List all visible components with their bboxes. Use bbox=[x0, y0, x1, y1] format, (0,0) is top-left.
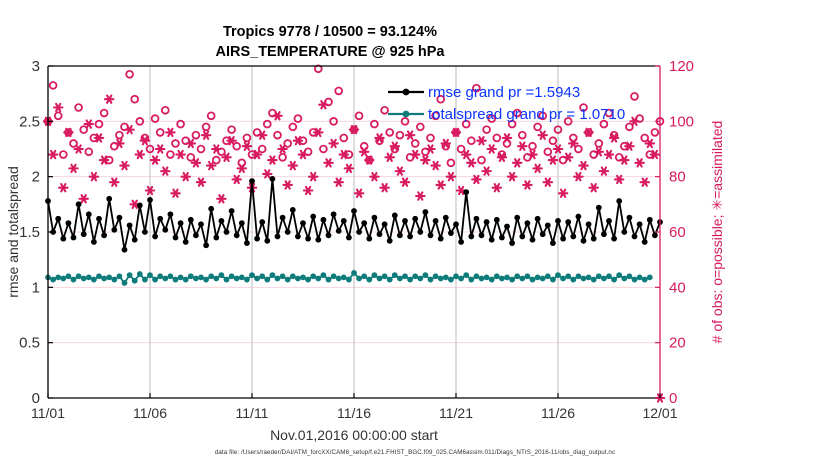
ytick-label-right: 20 bbox=[669, 335, 686, 352]
series-point-totalspread bbox=[530, 277, 536, 283]
series-point-totalspread bbox=[239, 274, 245, 280]
series-point-rmse bbox=[188, 217, 194, 223]
series-point-rmse bbox=[448, 230, 454, 236]
series-point-rmse bbox=[606, 218, 612, 224]
series-point-totalspread bbox=[326, 277, 332, 283]
ytick-label-right: 60 bbox=[669, 224, 686, 241]
series-point-totalspread bbox=[208, 273, 214, 279]
series-point-rmse bbox=[601, 231, 607, 237]
series-point-totalspread bbox=[632, 277, 638, 283]
series-point-rmse bbox=[377, 231, 383, 237]
series-point-rmse bbox=[479, 232, 485, 238]
series-point-totalspread bbox=[300, 274, 306, 280]
series-point-rmse bbox=[300, 220, 306, 226]
series-point-totalspread bbox=[280, 273, 286, 279]
series-point-rmse bbox=[254, 236, 260, 242]
series-point-totalspread bbox=[504, 274, 510, 280]
series-point-rmse bbox=[387, 238, 393, 244]
series-point-rmse bbox=[494, 217, 500, 223]
series-point-rmse bbox=[402, 218, 408, 224]
series-point-totalspread bbox=[560, 276, 566, 282]
series-point-totalspread bbox=[443, 274, 449, 280]
series-point-totalspread bbox=[428, 277, 434, 283]
series-point-rmse bbox=[356, 229, 362, 235]
series-point-totalspread bbox=[178, 274, 184, 280]
series-point-rmse bbox=[525, 220, 531, 226]
series-point-rmse bbox=[285, 229, 291, 235]
series-point-totalspread bbox=[213, 276, 219, 282]
xtick-label: 11/16 bbox=[337, 405, 371, 421]
ytick-label-right: 40 bbox=[669, 279, 686, 296]
series-point-totalspread bbox=[168, 273, 174, 279]
series-point-totalspread bbox=[555, 272, 561, 278]
series-point-rmse bbox=[382, 221, 388, 227]
series-point-rmse bbox=[259, 219, 265, 225]
series-point-rmse bbox=[453, 221, 459, 227]
series-point-rmse bbox=[565, 219, 571, 225]
series-point-totalspread bbox=[514, 273, 520, 279]
series-point-totalspread bbox=[321, 272, 327, 278]
series-point-rmse bbox=[76, 201, 82, 207]
series-point-rmse bbox=[433, 218, 439, 224]
series-point-totalspread bbox=[377, 276, 383, 282]
series-point-totalspread bbox=[259, 273, 265, 279]
series-point-rmse bbox=[596, 205, 602, 211]
series-point-rmse bbox=[468, 234, 474, 240]
series-point-rmse bbox=[117, 215, 123, 221]
legend-marker-1 bbox=[403, 111, 410, 118]
series-point-rmse bbox=[545, 222, 551, 228]
series-point-rmse bbox=[275, 234, 281, 240]
ytick-label-right: 80 bbox=[669, 169, 686, 186]
data-file-footer: data file: /Users/raeder/DAI/ATM_forcXX/… bbox=[0, 449, 830, 456]
series-point-rmse bbox=[570, 234, 576, 240]
series-point-rmse bbox=[157, 216, 163, 222]
series-point-totalspread bbox=[76, 273, 82, 279]
series-point-rmse bbox=[55, 216, 61, 222]
series-point-rmse bbox=[183, 239, 189, 245]
series-point-rmse bbox=[71, 235, 77, 241]
series-point-totalspread bbox=[458, 276, 464, 282]
series-point-totalspread bbox=[550, 277, 556, 283]
series-point-rmse bbox=[178, 220, 184, 226]
series-point-totalspread bbox=[101, 276, 107, 282]
ytick-label-left: 0.5 bbox=[19, 335, 40, 352]
series-point-rmse bbox=[249, 178, 255, 184]
series-point-totalspread bbox=[545, 273, 551, 279]
series-point-totalspread bbox=[106, 274, 112, 280]
series-point-totalspread bbox=[132, 278, 138, 284]
series-point-rmse bbox=[392, 213, 398, 219]
series-point-rmse bbox=[489, 237, 495, 243]
series-point-rmse bbox=[193, 232, 199, 238]
series-point-totalspread bbox=[203, 277, 209, 283]
series-point-totalspread bbox=[565, 273, 571, 279]
series-point-totalspread bbox=[397, 276, 403, 282]
series-point-rmse bbox=[443, 215, 449, 221]
series-point-totalspread bbox=[331, 273, 337, 279]
series-point-rmse bbox=[484, 219, 490, 225]
series-point-rmse bbox=[66, 220, 72, 226]
y-axis-label: rmse and totalspread bbox=[5, 166, 21, 298]
series-point-rmse bbox=[336, 228, 342, 234]
ytick-label-left: 1.5 bbox=[19, 224, 40, 241]
series-point-rmse bbox=[550, 240, 556, 246]
series-point-totalspread bbox=[412, 273, 418, 279]
series-point-rmse bbox=[504, 224, 510, 230]
series-point-rmse bbox=[351, 208, 357, 214]
legend-label-0: rmse grand pr =1.5943 bbox=[428, 84, 580, 101]
series-point-totalspread bbox=[219, 272, 225, 278]
series-point-totalspread bbox=[336, 276, 342, 282]
series-point-totalspread bbox=[81, 276, 87, 282]
series-point-totalspread bbox=[183, 277, 189, 283]
series-point-totalspread bbox=[489, 277, 495, 283]
series-point-totalspread bbox=[111, 277, 117, 283]
series-point-rmse bbox=[106, 196, 112, 202]
series-point-rmse bbox=[530, 237, 536, 243]
series-point-rmse bbox=[463, 189, 469, 195]
series-point-totalspread bbox=[310, 273, 316, 279]
series-point-rmse bbox=[519, 234, 525, 240]
series-point-totalspread bbox=[366, 277, 372, 283]
series-point-rmse bbox=[509, 240, 515, 246]
series-point-rmse bbox=[244, 240, 250, 246]
series-point-rmse bbox=[147, 197, 153, 203]
series-point-totalspread bbox=[642, 277, 648, 283]
series-point-rmse bbox=[642, 239, 648, 245]
series-point-totalspread bbox=[570, 277, 576, 283]
series-point-totalspread bbox=[147, 272, 153, 278]
series-point-rmse bbox=[142, 229, 148, 235]
series-point-rmse bbox=[423, 209, 429, 215]
series-point-totalspread bbox=[468, 277, 474, 283]
series-point-totalspread bbox=[540, 276, 546, 282]
series-point-totalspread bbox=[55, 274, 61, 280]
series-point-totalspread bbox=[315, 276, 321, 282]
series-point-totalspread bbox=[270, 272, 276, 278]
ytick-label-left: 2 bbox=[32, 169, 40, 186]
ytick-label-left: 2.5 bbox=[19, 113, 40, 130]
series-point-totalspread bbox=[361, 273, 367, 279]
series-point-rmse bbox=[132, 237, 138, 243]
legend-label-1: totalspread grand pr = 1.0710 bbox=[428, 106, 625, 123]
series-point-rmse bbox=[555, 218, 561, 224]
series-point-totalspread bbox=[453, 273, 459, 279]
series-point-totalspread bbox=[173, 277, 179, 283]
series-point-totalspread bbox=[499, 276, 505, 282]
series-point-totalspread bbox=[535, 274, 541, 280]
series-point-totalspread bbox=[305, 277, 311, 283]
series-point-rmse bbox=[616, 198, 622, 204]
series-point-totalspread bbox=[438, 276, 444, 282]
series-point-rmse bbox=[101, 232, 107, 238]
series-point-rmse bbox=[458, 239, 464, 245]
series-point-rmse bbox=[581, 238, 587, 244]
series-point-rmse bbox=[137, 203, 143, 209]
series-point-rmse bbox=[331, 211, 337, 217]
series-point-rmse bbox=[652, 232, 658, 238]
legend-marker-0 bbox=[403, 89, 410, 96]
series-point-rmse bbox=[397, 232, 403, 238]
series-point-rmse bbox=[208, 206, 214, 212]
series-point-rmse bbox=[326, 232, 332, 238]
series-point-rmse bbox=[203, 242, 209, 248]
series-point-totalspread bbox=[596, 273, 602, 279]
series-point-totalspread bbox=[50, 277, 56, 283]
series-point-totalspread bbox=[519, 276, 525, 282]
series-point-totalspread bbox=[576, 273, 582, 279]
series-point-rmse bbox=[535, 216, 541, 222]
series-point-totalspread bbox=[484, 274, 490, 280]
series-point-totalspread bbox=[346, 277, 352, 283]
series-point-rmse bbox=[361, 220, 367, 226]
series-point-rmse bbox=[122, 247, 128, 253]
series-point-totalspread bbox=[198, 274, 204, 280]
series-point-rmse bbox=[321, 217, 327, 223]
series-point-totalspread bbox=[611, 277, 617, 283]
series-point-totalspread bbox=[637, 274, 643, 280]
series-point-totalspread bbox=[586, 274, 592, 280]
series-point-totalspread bbox=[66, 273, 72, 279]
series-point-rmse bbox=[162, 227, 168, 233]
series-point-totalspread bbox=[433, 273, 439, 279]
series-point-rmse bbox=[213, 235, 219, 241]
series-point-rmse bbox=[346, 235, 352, 241]
series-point-totalspread bbox=[448, 277, 454, 283]
series-point-rmse bbox=[372, 215, 378, 221]
xtick-label: 12/01 bbox=[642, 405, 677, 421]
series-point-rmse bbox=[198, 221, 204, 227]
series-point-totalspread bbox=[494, 273, 500, 279]
series-point-totalspread bbox=[351, 270, 357, 276]
series-point-rmse bbox=[111, 227, 117, 233]
series-point-totalspread bbox=[290, 273, 296, 279]
series-point-rmse bbox=[96, 216, 102, 222]
series-point-rmse bbox=[591, 236, 597, 242]
series-point-totalspread bbox=[606, 273, 612, 279]
xtick-label: 11/26 bbox=[541, 405, 575, 421]
series-point-rmse bbox=[637, 221, 643, 227]
series-point-rmse bbox=[127, 222, 133, 228]
series-point-rmse bbox=[280, 215, 286, 221]
series-point-rmse bbox=[560, 236, 566, 242]
series-point-totalspread bbox=[142, 277, 148, 283]
series-point-rmse bbox=[621, 229, 627, 235]
series-point-totalspread bbox=[581, 276, 587, 282]
series-point-totalspread bbox=[463, 272, 469, 278]
series-point-totalspread bbox=[275, 276, 281, 282]
xtick-label: 11/01 bbox=[31, 405, 65, 421]
y2-axis-label: # of obs: o=possible; ✳=assimilated bbox=[709, 121, 725, 344]
series-point-rmse bbox=[417, 229, 423, 235]
series-point-totalspread bbox=[117, 273, 123, 279]
ytick-label-right: 120 bbox=[669, 58, 694, 75]
series-point-rmse bbox=[474, 216, 480, 222]
figure-root: Tropics 9778 / 10500 = 93.124% AIRS_TEMP… bbox=[0, 0, 830, 470]
series-point-totalspread bbox=[127, 272, 133, 278]
series-point-totalspread bbox=[479, 276, 485, 282]
series-point-totalspread bbox=[96, 273, 102, 279]
series-point-rmse bbox=[81, 231, 87, 237]
series-point-rmse bbox=[152, 234, 158, 240]
series-point-rmse bbox=[315, 237, 321, 243]
xtick-label: 11/11 bbox=[236, 405, 269, 421]
series-point-rmse bbox=[632, 234, 638, 240]
ytick-label-left: 3 bbox=[32, 58, 40, 75]
series-point-totalspread bbox=[193, 276, 199, 282]
series-point-totalspread bbox=[407, 277, 413, 283]
series-point-rmse bbox=[290, 207, 296, 213]
series-point-rmse bbox=[239, 220, 245, 226]
series-point-rmse bbox=[86, 211, 92, 217]
series-point-rmse bbox=[295, 234, 301, 240]
series-point-totalspread bbox=[356, 276, 362, 282]
series-point-totalspread bbox=[525, 273, 531, 279]
xtick-label: 11/21 bbox=[439, 405, 473, 421]
series-point-totalspread bbox=[188, 273, 194, 279]
series-point-rmse bbox=[576, 214, 582, 220]
series-point-totalspread bbox=[621, 276, 627, 282]
series-point-rmse bbox=[438, 236, 444, 242]
series-point-rmse bbox=[91, 239, 97, 245]
series-point-totalspread bbox=[647, 274, 653, 280]
series-point-rmse bbox=[224, 229, 230, 235]
series-point-rmse bbox=[627, 215, 633, 221]
series-point-rmse bbox=[234, 232, 240, 238]
series-point-rmse bbox=[499, 235, 505, 241]
series-point-rmse bbox=[428, 232, 434, 238]
series-point-rmse bbox=[219, 218, 225, 224]
series-point-totalspread bbox=[86, 274, 92, 280]
series-point-totalspread bbox=[157, 273, 163, 279]
xtick-label: 11/06 bbox=[133, 405, 167, 421]
series-point-rmse bbox=[173, 235, 179, 241]
series-point-rmse bbox=[270, 176, 276, 182]
series-point-rmse bbox=[305, 236, 311, 242]
series-point-totalspread bbox=[474, 273, 480, 279]
series-point-rmse bbox=[168, 211, 174, 217]
plot-svg: 00.511.522.5302040608010012011/0111/0611… bbox=[0, 0, 830, 470]
series-point-totalspread bbox=[509, 277, 515, 283]
series-point-totalspread bbox=[224, 277, 230, 283]
series-point-totalspread bbox=[295, 276, 301, 282]
series-point-rmse bbox=[366, 236, 372, 242]
series-point-rmse bbox=[514, 215, 520, 221]
series-point-totalspread bbox=[152, 277, 158, 283]
series-point-totalspread bbox=[249, 272, 255, 278]
series-point-totalspread bbox=[382, 273, 388, 279]
series-point-totalspread bbox=[402, 273, 408, 279]
series-point-rmse bbox=[412, 216, 418, 222]
series-point-rmse bbox=[310, 214, 316, 220]
series-point-rmse bbox=[229, 208, 235, 214]
ytick-label-left: 1 bbox=[32, 279, 40, 296]
series-point-totalspread bbox=[137, 271, 143, 277]
series-point-totalspread bbox=[616, 272, 622, 278]
series-point-rmse bbox=[407, 234, 413, 240]
series-point-totalspread bbox=[423, 272, 429, 278]
series-point-totalspread bbox=[387, 277, 393, 283]
series-point-rmse bbox=[540, 231, 546, 237]
series-point-totalspread bbox=[244, 277, 250, 283]
series-point-totalspread bbox=[285, 277, 291, 283]
series-point-totalspread bbox=[229, 273, 235, 279]
series-point-rmse bbox=[341, 218, 347, 224]
series-point-totalspread bbox=[264, 277, 270, 283]
series-point-totalspread bbox=[234, 276, 240, 282]
series-point-totalspread bbox=[60, 276, 66, 282]
series-point-totalspread bbox=[417, 276, 423, 282]
series-point-rmse bbox=[647, 217, 653, 223]
series-point-rmse bbox=[264, 238, 270, 244]
series-point-totalspread bbox=[601, 276, 607, 282]
series-point-totalspread bbox=[254, 276, 260, 282]
series-point-totalspread bbox=[341, 274, 347, 280]
ytick-label-right: 100 bbox=[669, 113, 694, 130]
series-point-totalspread bbox=[91, 277, 97, 283]
series-point-rmse bbox=[586, 221, 592, 227]
series-point-totalspread bbox=[71, 277, 77, 283]
series-point-totalspread bbox=[392, 272, 398, 278]
x-axis-label: Nov.01,2016 00:00:00 start bbox=[270, 427, 438, 443]
series-point-totalspread bbox=[122, 280, 128, 286]
series-point-totalspread bbox=[627, 273, 633, 279]
series-point-totalspread bbox=[372, 272, 378, 278]
series-point-rmse bbox=[60, 236, 66, 242]
series-point-totalspread bbox=[591, 277, 597, 283]
series-point-totalspread bbox=[162, 276, 168, 282]
series-point-rmse bbox=[611, 236, 617, 242]
